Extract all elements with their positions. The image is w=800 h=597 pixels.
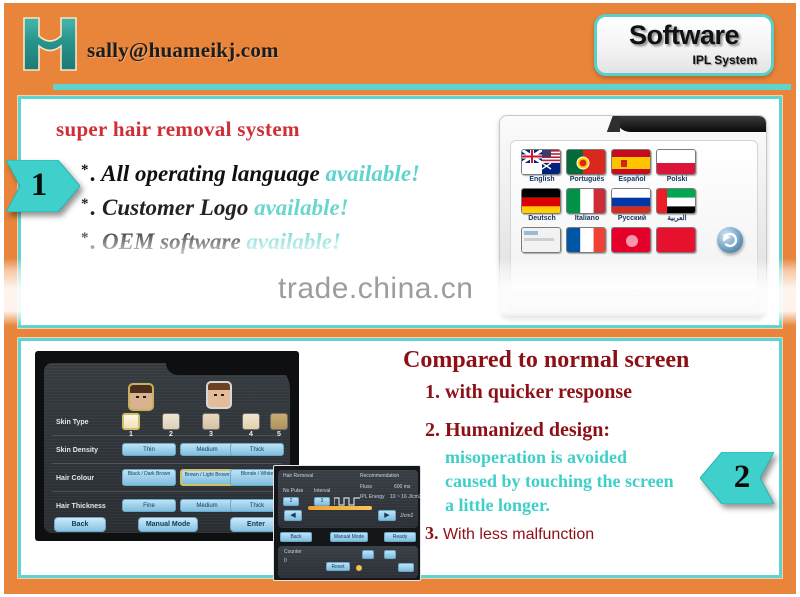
option-button[interactable]: Brown / Light Brown [180, 469, 234, 486]
overlay-reset-button[interactable]: Reset [326, 562, 350, 571]
language-flag-grid[interactable]: English Português [521, 149, 699, 253]
list-item[interactable]: Português [566, 149, 608, 185]
flag-label: English [521, 175, 563, 185]
flag-row3-d-icon [656, 227, 696, 253]
list-item[interactable]: Русский [611, 188, 653, 224]
skin-swatch[interactable] [270, 413, 288, 430]
callout-badge-1-number: 1 [0, 167, 80, 204]
list-item: *. All operating language available! [81, 155, 501, 189]
flag-arabic-icon [656, 188, 696, 214]
bullet-highlight: available! [246, 229, 341, 254]
page-header: sally@huameikj.com Software IPL System [13, 8, 787, 88]
callout-badge-2-number: 2 [710, 459, 774, 496]
hair-removal-overlay-panel: Hair Removal No Pulse Interval Recommend… [273, 465, 421, 581]
bullet-text: . Customer Logo [91, 195, 255, 220]
device-screenshot: Skin Type 1 2 3 4 5 Skin Density Thin Me… [35, 351, 299, 541]
refresh-arrow-icon[interactable] [717, 227, 743, 253]
flag-german-icon [521, 188, 561, 214]
contact-email: sally@huameikj.com [87, 38, 279, 63]
list-item[interactable]: Español [611, 149, 653, 185]
section-one-headline: super hair removal system [56, 117, 300, 142]
option-button[interactable]: Thin [122, 443, 176, 456]
option-button[interactable]: Fine [122, 499, 176, 512]
list-item[interactable] [566, 227, 608, 253]
flag-english-icon [521, 149, 561, 175]
overlay-interval-value[interactable]: 3 [314, 497, 330, 506]
device-top-bar [616, 116, 766, 132]
comparison-point-2: 2. Humanized design: [425, 419, 610, 442]
row-divider [52, 491, 282, 492]
status-indicator-icon [356, 565, 362, 571]
swatch-number: 3 [209, 431, 213, 438]
avatar-eye [221, 394, 224, 396]
manual-mode-button[interactable]: Manual Mode [138, 517, 198, 532]
bullet-highlight: available! [325, 161, 420, 186]
header-underline [53, 84, 791, 90]
callout-badge-1: 1 [6, 160, 80, 212]
device-notch [166, 362, 292, 375]
bullet-text: . OEM software [91, 229, 247, 254]
comparison-point-2-sub: a little longer. [445, 495, 550, 516]
overlay-unit: J/cm2 [400, 513, 413, 519]
comparison-point-3-number: 3. [425, 523, 439, 543]
overlay-label-interval: Interval [314, 488, 330, 494]
comparison-point-3: 3. With less malfunction [425, 523, 594, 544]
device-ui-body: Skin Type 1 2 3 4 5 Skin Density Thin Me… [44, 363, 290, 533]
flag-row3-c-icon [611, 227, 651, 253]
comparison-point-1: 1. with quicker response [425, 381, 632, 404]
row-label-hair-thickness: Hair Thickness [56, 503, 106, 510]
software-badge-subtitle: IPL System [693, 53, 757, 67]
bullet-star-icon: * [81, 230, 89, 246]
feature-bullet-list: *. All operating language available! *. … [81, 155, 501, 257]
device-base-bar [508, 295, 760, 311]
increase-arrow-icon[interactable]: ▶ [378, 510, 396, 521]
list-item: *. Customer Logo available! [81, 189, 501, 223]
avatar-eye [136, 396, 139, 398]
overlay-counter-value: 0 [284, 558, 287, 564]
overlay-icon-button-b[interactable] [384, 550, 396, 559]
overlay-icon-button-c[interactable] [398, 563, 414, 572]
flag-row3-b-icon [566, 227, 606, 253]
list-item[interactable]: Deutsch [521, 188, 563, 224]
overlay-title: Hair Removal [283, 473, 313, 479]
overlay-value-energy: 10 ~ 16 J/cm2 [390, 494, 421, 500]
flag-russian-icon [611, 188, 651, 214]
hm-monogram-logo-icon [19, 12, 81, 76]
overlay-label-fluss: Fluss [360, 484, 372, 490]
skin-swatch[interactable] [202, 413, 220, 430]
option-button[interactable]: Medium [180, 443, 234, 456]
skin-swatch[interactable] [242, 413, 260, 430]
overlay-label-nopulse: No Pulse [283, 488, 303, 494]
section-one-panel: super hair removal system *. All operati… [18, 96, 782, 328]
swatch-number: 1 [129, 431, 133, 438]
overlay-label-recommendation: Recommendation [360, 473, 399, 479]
list-item[interactable]: English [521, 149, 563, 185]
row-label-skin-density: Skin Density [56, 447, 98, 454]
row-label-hair-colour: Hair Colour [56, 475, 94, 482]
overlay-counter-label: Counter [284, 549, 302, 555]
list-item[interactable] [611, 227, 653, 253]
bullet-star-icon: * [81, 162, 89, 178]
flag-portuguese-icon [566, 149, 606, 175]
bullet-text: . All operating language [91, 161, 326, 186]
flag-label: Español [611, 175, 653, 185]
flag-label: Português [566, 175, 608, 185]
comparison-point-3-text: With less malfunction [439, 526, 595, 543]
page-root: sally@huameikj.com Software IPL System s… [0, 0, 800, 597]
flag-label: Русский [611, 214, 653, 224]
overlay-back-button[interactable]: Back [280, 532, 312, 542]
swatch-number: 2 [169, 431, 173, 438]
avatar-female[interactable] [206, 381, 232, 409]
software-badge-title: Software [597, 20, 771, 51]
list-item[interactable]: Italiano [566, 188, 608, 224]
back-button[interactable]: Back [54, 517, 106, 532]
avatar-hair [208, 383, 230, 390]
swatch-number: 4 [249, 431, 253, 438]
row-label-skin-type: Skin Type [56, 419, 89, 426]
flag-label: العربية [656, 214, 698, 224]
comparison-point-2-sub: misoperation is avoided [445, 447, 627, 468]
swatch-number: 5 [277, 431, 281, 438]
avatar-eye [214, 394, 217, 396]
overlay-ready-button[interactable]: Ready [384, 532, 416, 542]
overlay-manual-button[interactable]: Manual Mode [330, 532, 368, 542]
list-item[interactable] [656, 227, 698, 253]
language-selector-device: English Português [499, 115, 767, 317]
row-divider [52, 463, 282, 464]
section-two-panel: Skin Type 1 2 3 4 5 Skin Density Thin Me… [18, 338, 782, 578]
flag-polish-icon [656, 149, 696, 175]
overlay-icon-button-a[interactable] [362, 550, 374, 559]
bullet-star-icon: * [81, 196, 89, 212]
avatar-hair [130, 385, 152, 393]
list-item[interactable] [521, 227, 563, 253]
device-inner-screen: English Português [510, 140, 758, 290]
flag-label: Polski [656, 175, 698, 185]
overlay-nopulse-value[interactable]: 2 [283, 497, 299, 506]
option-button[interactable]: Thick [230, 443, 284, 456]
avatar-eye [143, 396, 146, 398]
decrease-arrow-icon[interactable]: ◀ [284, 510, 302, 521]
option-button[interactable]: Black / Dark Brown [122, 469, 176, 486]
callout-badge-2: 2 [700, 452, 774, 504]
flag-spanish-icon [611, 149, 651, 175]
flag-label: Italiano [566, 214, 608, 224]
list-item[interactable]: العربية [656, 188, 698, 224]
bullet-highlight: available! [254, 195, 349, 220]
software-badge: Software IPL System [594, 14, 774, 76]
avatar-male[interactable] [128, 383, 154, 411]
flag-row3-a-icon [521, 227, 561, 253]
skin-swatch[interactable] [122, 413, 140, 430]
overlay-value-fluss: 600 ms [394, 484, 410, 490]
comparison-point-2-sub: caused by touching the screen [445, 471, 674, 492]
skin-swatch[interactable] [162, 413, 180, 430]
flag-italian-icon [566, 188, 606, 214]
list-item: *. OEM software available! [81, 223, 501, 257]
list-item[interactable]: Polski [656, 149, 698, 185]
energy-slider-bar[interactable] [308, 506, 372, 510]
overlay-label-energy: IPL Energy [360, 494, 385, 500]
option-button[interactable]: Medium [180, 499, 234, 512]
row-divider [52, 435, 282, 436]
flag-label: Deutsch [521, 214, 563, 224]
comparison-title: Compared to normal screen [403, 347, 689, 374]
